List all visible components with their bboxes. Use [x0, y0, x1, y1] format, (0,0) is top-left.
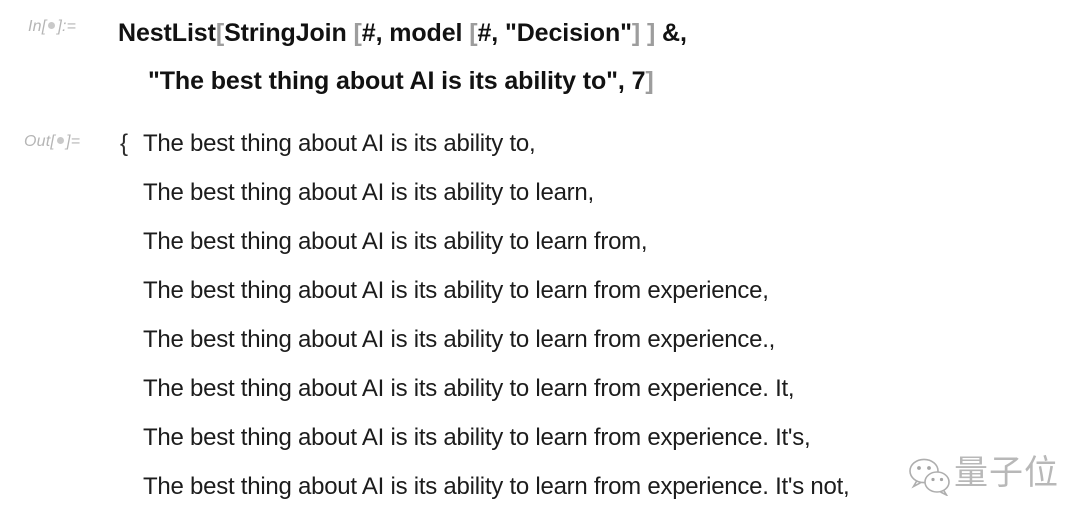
output-cell: { The best thing about AI is its ability… [120, 128, 1075, 520]
output-list-item: { The best thing about AI is its ability… [120, 128, 1075, 177]
output-list-item: The best thing about AI is its ability t… [120, 177, 1075, 226]
output-label-prefix: Out[ [24, 133, 55, 150]
output-list-item: The best thing about AI is its ability t… [120, 471, 1075, 520]
input-cell[interactable]: NestList[StringJoin [#, model [#, "Decis… [118, 9, 1058, 105]
token-bracket-open-1: [ [216, 19, 224, 47]
output-line-text: The best thing about AI is its ability t… [143, 226, 647, 258]
token-bracket-open-2: [ [347, 19, 362, 47]
mathematica-notebook: In[]:= NestList[StringJoin [#, model [#,… [0, 0, 1080, 526]
output-line-text: The best thing about AI is its ability t… [143, 471, 849, 503]
output-line-text: The best thing about AI is its ability t… [143, 177, 594, 209]
output-label-dot-icon [57, 137, 64, 144]
token-slot-comma: #, [477, 19, 505, 47]
input-label-suffix: ]:= [57, 18, 76, 35]
output-label-suffix: ]= [66, 133, 80, 150]
token-function-amp: &, [655, 19, 687, 47]
token-bracket-open-3: [ [462, 19, 477, 47]
output-list-item: The best thing about AI is its ability t… [120, 226, 1075, 275]
output-line-text: The best thing about AI is its ability t… [143, 128, 535, 160]
output-list-item: The best thing about AI is its ability t… [120, 373, 1075, 422]
output-line-text: The best thing about AI is its ability t… [143, 373, 794, 405]
token-string-decision: "Decision" [505, 19, 632, 47]
input-label-prefix: In[ [28, 18, 46, 35]
input-label-dot-icon [48, 22, 55, 29]
list-open-brace: { [120, 128, 128, 160]
token-bracket-close-group: ] ] [632, 19, 655, 47]
token-count-arg: , 7 [618, 67, 646, 95]
token-bracket-close-final: ] [645, 67, 653, 95]
output-cell-label: Out[]= [24, 133, 80, 151]
token-stringjoin: StringJoin [224, 19, 347, 47]
input-cell-label: In[]:= [28, 18, 76, 36]
output-list-item: The best thing about AI is its ability t… [120, 275, 1075, 324]
output-list-item: The best thing about AI is its ability t… [120, 422, 1075, 471]
token-string-prompt: "The best thing about AI is its ability … [148, 67, 618, 95]
output-line-text: The best thing about AI is its ability t… [143, 422, 810, 454]
input-line-2[interactable]: "The best thing about AI is its ability … [118, 57, 1058, 105]
output-line-text: The best thing about AI is its ability t… [143, 324, 775, 356]
output-line-text: The best thing about AI is its ability t… [143, 275, 769, 307]
output-list-item: The best thing about AI is its ability t… [120, 324, 1075, 373]
token-slot-model: #, model [362, 19, 463, 47]
input-line-1[interactable]: NestList[StringJoin [#, model [#, "Decis… [118, 9, 1058, 57]
token-nestlist: NestList [118, 19, 216, 47]
